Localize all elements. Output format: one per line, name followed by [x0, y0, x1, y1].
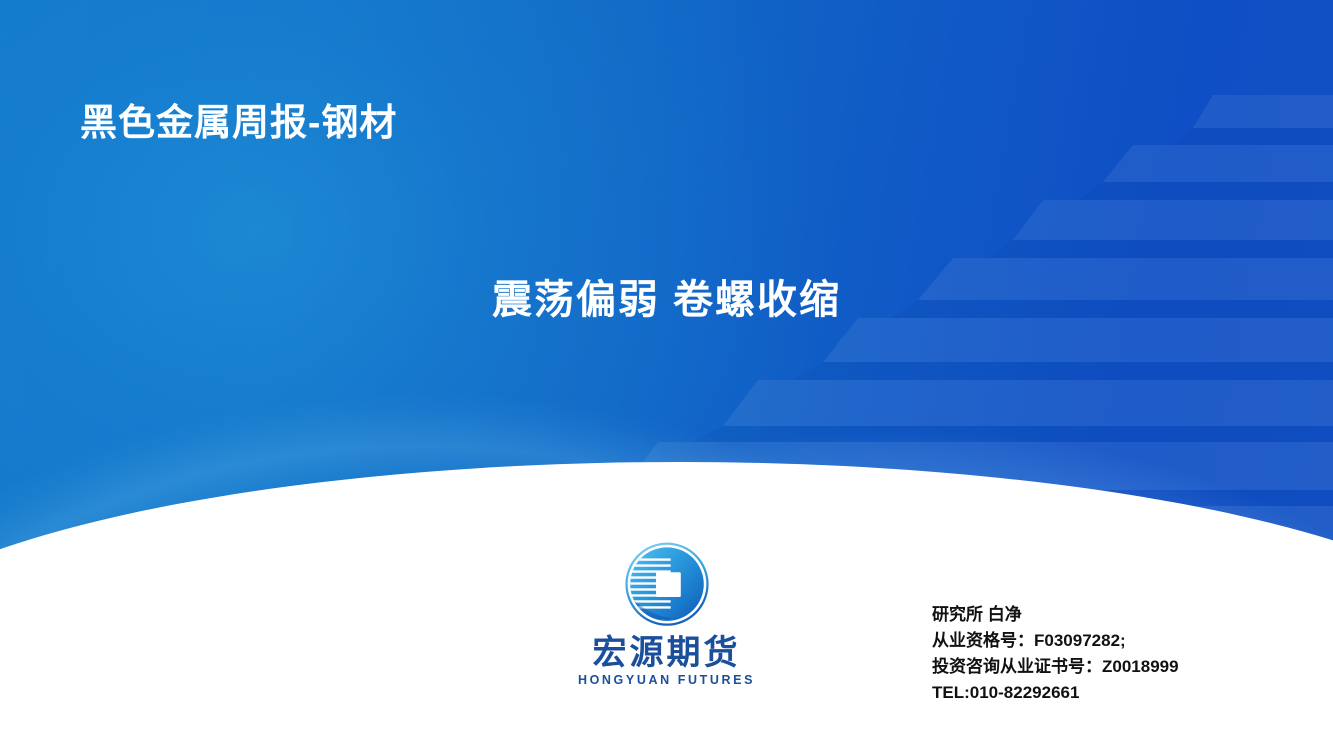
consulting-certificate-number: 投资咨询从业证书号：Z0018999 — [932, 654, 1179, 680]
headline-text: 震荡偏弱 卷螺收缩 — [0, 267, 1333, 325]
logo-company-name-cn: 宏源期货 — [552, 636, 782, 672]
slide-date: 2025年10月13日 — [0, 474, 1333, 510]
hongyuan-futures-emblem-icon — [621, 540, 713, 632]
analyst-contact-block: 研究所 白净 从业资格号：F03097282; 投资咨询从业证书号：Z00189… — [932, 602, 1179, 706]
logo-company-name-en: HONGYUAN FUTURES — [552, 673, 782, 687]
analyst-name: 研究所 白净 — [932, 602, 1179, 628]
practice-number: 从业资格号：F03097282; — [932, 628, 1179, 654]
title-slide: 黑色金属周报-钢材 震荡偏弱 卷螺收缩 2025年10月13日 — [0, 0, 1333, 750]
telephone: TEL:010-82292661 — [932, 680, 1179, 706]
company-logo: 宏源期货 HONGYUAN FUTURES — [552, 540, 782, 687]
page-title: 黑色金属周报-钢材 — [80, 92, 397, 146]
